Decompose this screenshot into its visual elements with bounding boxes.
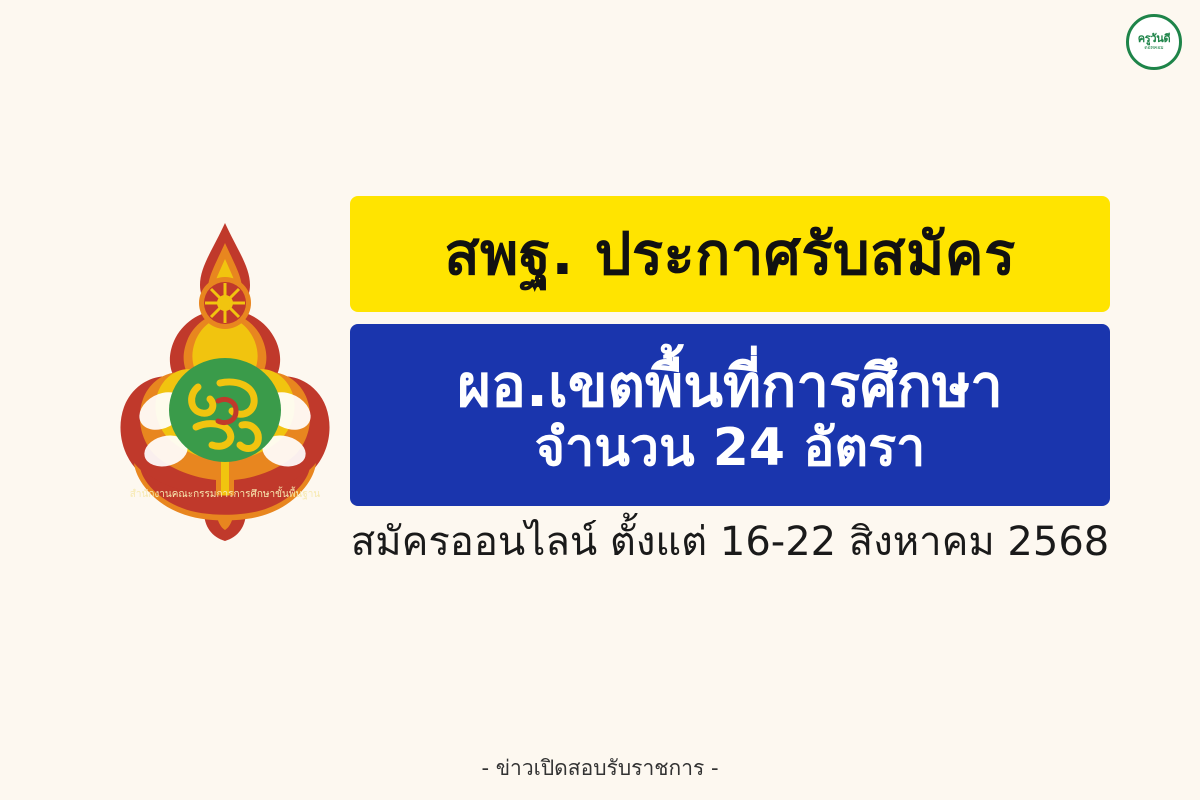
brand-logo-sub-text: ดอทคอม [1144, 46, 1163, 51]
brand-logo-main-text: ครูวันดี [1138, 33, 1171, 45]
headline-text: สพฐ. ประกาศรับสมัคร [444, 225, 1016, 283]
emblem-ribbon-text: สำนักงานคณะกรรมการการศึกษาขั้นพื้นฐาน [130, 486, 321, 500]
headline-band: สพฐ. ประกาศรับสมัคร [350, 196, 1110, 312]
poster-canvas: ครูวันดี ดอทคอม [0, 0, 1200, 800]
footer-caption: - ข่าวเปิดสอบรับราชการ - [0, 752, 1200, 785]
application-period-text: สมัครออนไลน์ ตั้งแต่ 16-22 สิงหาคม 2568 [350, 520, 1110, 564]
highlight-band: ผอ.เขตพื้นที่การศึกษา จำนวน 24 อัตรา [350, 324, 1110, 506]
obec-emblem: สำนักงานคณะกรรมการการศึกษาขั้นพื้นฐาน [100, 215, 350, 545]
poster-text-column: สพฐ. ประกาศรับสมัคร ผอ.เขตพื้นที่การศึกษ… [350, 196, 1110, 564]
highlight-line-2: จำนวน 24 อัตรา [535, 419, 926, 477]
highlight-line-1: ผอ.เขตพื้นที่การศึกษา [457, 354, 1003, 419]
brand-logo-badge: ครูวันดี ดอทคอม [1126, 14, 1182, 70]
